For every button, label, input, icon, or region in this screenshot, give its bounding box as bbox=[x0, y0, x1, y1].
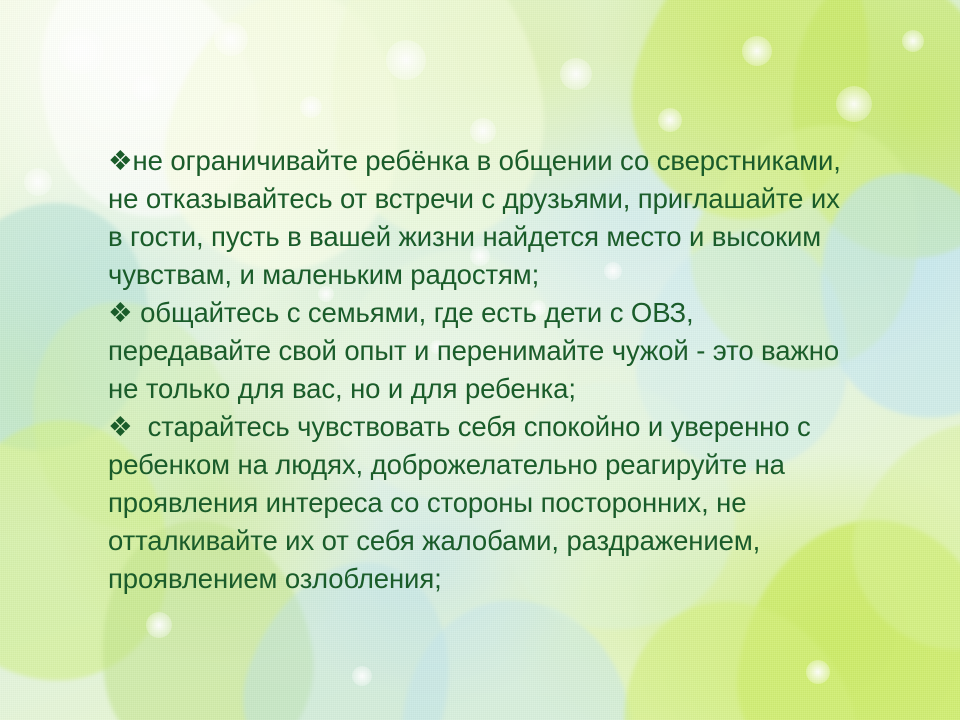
bokeh-dot bbox=[132, 74, 160, 102]
bokeh-dot bbox=[658, 108, 682, 132]
bokeh-dot bbox=[560, 58, 592, 90]
bokeh-dot bbox=[742, 36, 772, 66]
text-line: в гости, пусть в вашей жизни найдется ме… bbox=[108, 218, 924, 256]
bokeh-dot bbox=[806, 660, 830, 684]
text-line: не отказывайтесь от встречи с друзьями, … bbox=[108, 180, 924, 218]
bokeh-dot bbox=[24, 168, 52, 196]
bokeh-dot bbox=[386, 40, 426, 80]
text-line: ребенком на людях, доброжелательно реаги… bbox=[108, 446, 924, 484]
bokeh-dot bbox=[146, 612, 172, 638]
text-line: отталкивайте их от себя жалобами, раздра… bbox=[108, 522, 924, 560]
text-line: проявлением озлобления; bbox=[108, 560, 924, 598]
slide-body-text: ❖не ограничивайте ребёнка в общении со с… bbox=[108, 142, 924, 598]
bokeh-dot bbox=[352, 666, 372, 686]
text-line: ❖не ограничивайте ребёнка в общении со с… bbox=[108, 142, 924, 180]
presentation-slide: ❖не ограничивайте ребёнка в общении со с… bbox=[0, 0, 960, 720]
bokeh-dot bbox=[836, 86, 872, 122]
bokeh-dot bbox=[58, 28, 104, 74]
text-line: проявления интереса со стороны посторонн… bbox=[108, 484, 924, 522]
bokeh-dot bbox=[470, 118, 496, 144]
bokeh-dot bbox=[300, 96, 322, 118]
text-line: передавайте свой опыт и перенимайте чужо… bbox=[108, 332, 924, 370]
text-line: ❖ старайтесь чувствовать себя спокойно и… bbox=[108, 408, 924, 446]
text-line: ❖ общайтесь с семьями, где есть дети с О… bbox=[108, 294, 924, 332]
petal-shape bbox=[389, 589, 642, 720]
text-line: не только для вас, но и для ребенка; bbox=[108, 370, 924, 408]
bokeh-dot bbox=[214, 22, 248, 56]
text-line: чувствам, и маленьким радостям; bbox=[108, 256, 924, 294]
bokeh-dot bbox=[902, 30, 924, 52]
